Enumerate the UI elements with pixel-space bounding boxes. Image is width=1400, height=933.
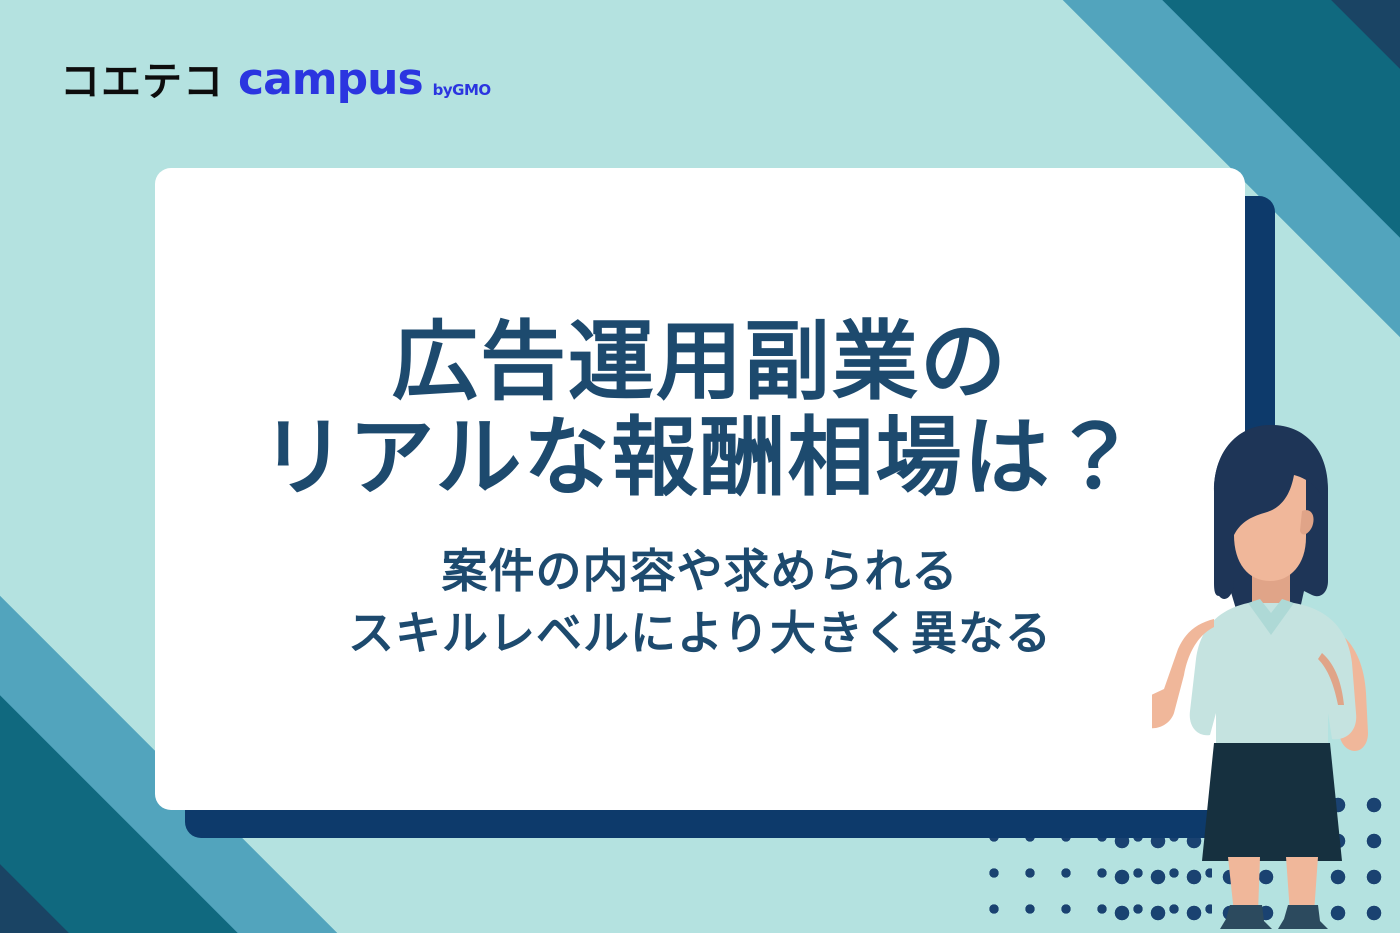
skirt-shape <box>1202 743 1342 861</box>
title-line-1: 広告運用副業の <box>260 314 1139 410</box>
logo-by-gmo-text: byGMO <box>433 83 491 98</box>
title-line-2: リアルな報酬相場は？ <box>260 410 1139 506</box>
logo-koeteco-text: コエテコ <box>60 62 224 102</box>
poster-canvas: コエテコ campus byGMO 広告運用副業の リアルな報酬相場は？ 案件の… <box>0 0 1400 933</box>
page-subtitle: 案件の内容や求められる スキルレベルにより大きく異なる <box>348 540 1052 664</box>
woman-illustration <box>1152 413 1382 933</box>
right-shoe-shape <box>1278 905 1328 929</box>
subtitle-line-1: 案件の内容や求められる <box>348 540 1052 602</box>
left-shoe-shape <box>1220 905 1272 929</box>
logo-campus-text: campus <box>238 58 423 102</box>
brand-logo: コエテコ campus byGMO <box>60 58 491 102</box>
left-leg-shape <box>1228 857 1260 913</box>
right-leg-shape <box>1286 857 1318 913</box>
headline-card: 広告運用副業の リアルな報酬相場は？ 案件の内容や求められる スキルレベルにより… <box>155 168 1245 810</box>
subtitle-line-2: スキルレベルにより大きく異なる <box>348 602 1052 664</box>
page-title: 広告運用副業の リアルな報酬相場は？ <box>260 314 1139 507</box>
